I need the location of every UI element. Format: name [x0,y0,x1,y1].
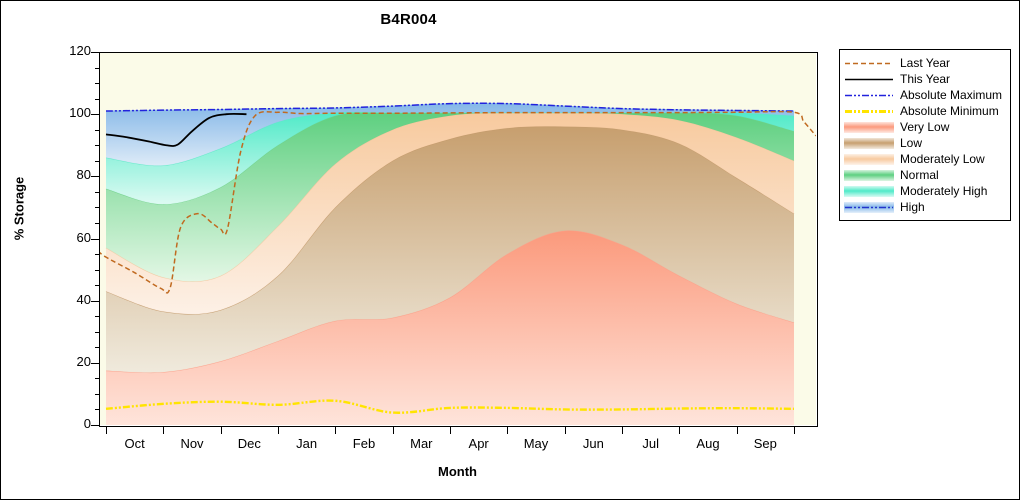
y-axis-tick-label: 0 [49,416,91,431]
x-axis-tick [507,426,508,434]
y-axis-tick-label: 40 [49,292,91,307]
x-axis-tick [278,426,279,434]
legend-item-label: Normal [900,167,939,183]
legend-item-high[interactable]: High [844,199,1006,215]
x-axis-tick [622,426,623,434]
plot-area [99,52,816,425]
legend-swatch-icon [844,89,894,102]
legend-item-this-year[interactable]: This Year [844,71,1006,87]
legend-item-label: High [900,199,925,215]
legend-swatch-icon [844,73,894,86]
y-axis-tick [91,363,100,364]
y-axis-tick [91,114,100,115]
x-axis-tick [565,426,566,434]
chart-canvas [99,52,816,425]
y-axis-tick [95,99,100,100]
y-axis-tick [95,223,100,224]
y-axis-tick-label: 20 [49,354,91,369]
y-axis-tick-label: 100 [49,105,91,120]
legend-item-label: Last Year [900,55,950,71]
y-axis-title: % Storage [12,129,27,289]
x-axis-tick-label: May [506,436,566,451]
y-axis-tick [95,332,100,333]
legend-item-label: Very Low [900,119,949,135]
y-axis-tick [95,145,100,146]
y-axis-tick [95,83,100,84]
y-axis-tick [95,270,100,271]
x-axis-tick [679,426,680,434]
x-axis-tick-label: Jan [277,436,337,451]
legend-item-label: Absolute Minimum [900,103,999,119]
legend[interactable]: Last YearThis YearAbsolute MaximumAbsolu… [839,49,1011,221]
legend-item-very-low[interactable]: Very Low [844,119,1006,135]
x-axis-tick [450,426,451,434]
x-axis-title: Month [99,464,816,479]
x-axis-tick-label: Jul [621,436,681,451]
chart-window: B4R004 % Storage Month 020406080100120 O… [0,0,1020,500]
legend-item-label: Moderately High [900,183,987,199]
x-axis-tick [106,426,107,434]
x-axis-tick-label: Aug [678,436,738,451]
legend-item-last-year[interactable]: Last Year [844,55,1006,71]
y-axis-tick [95,161,100,162]
x-axis-tick [393,426,394,434]
x-axis-tick-label: Dec [219,436,279,451]
x-axis-tick-label: Apr [449,436,509,451]
y-axis-tick [95,394,100,395]
legend-item-label: This Year [900,71,950,87]
legend-swatch-icon [844,201,894,214]
y-axis-tick [91,176,100,177]
y-axis-tick [95,285,100,286]
x-axis-tick [737,426,738,434]
y-axis-tick-label: 80 [49,167,91,182]
y-axis-tick-labels: 020406080100120 [45,1,91,501]
legend-item-normal[interactable]: Normal [844,167,1006,183]
x-axis-tick-label: Oct [105,436,165,451]
x-axis-tick-label: Sep [735,436,795,451]
y-axis-tick [95,207,100,208]
y-axis-tick [95,316,100,317]
y-axis-tick [95,254,100,255]
legend-item-moderately-low[interactable]: Moderately Low [844,151,1006,167]
x-axis-ticks [99,426,817,435]
y-axis-tick [95,378,100,379]
x-axis-tick [335,426,336,434]
legend-swatch-icon [844,57,894,70]
x-axis-tick [794,426,795,434]
legend-swatch-icon [844,137,894,150]
x-axis-tick [221,426,222,434]
y-axis-tick [95,68,100,69]
x-axis-tick-label: Jun [563,436,623,451]
legend-swatch-icon [844,121,894,134]
y-axis-tick [95,130,100,131]
legend-item-absolute-minimum[interactable]: Absolute Minimum [844,103,1006,119]
y-axis-tick [95,192,100,193]
y-axis-tick [91,52,100,53]
y-axis-tick [91,239,100,240]
y-axis-tick-label: 60 [49,230,91,245]
page-title: B4R004 [1,11,816,28]
legend-swatch-icon [844,153,894,166]
x-axis-tick-label: Mar [391,436,451,451]
legend-swatch-icon [844,185,894,198]
legend-item-label: Low [900,135,922,151]
x-axis-tick-label: Nov [162,436,222,451]
legend-item-moderately-high[interactable]: Moderately High [844,183,1006,199]
legend-swatch-icon [844,105,894,118]
legend-item-absolute-maximum[interactable]: Absolute Maximum [844,87,1006,103]
x-axis-tick-labels: OctNovDecJanFebMarAprMayJunJulAugSep [99,436,817,456]
y-axis-tick-label: 120 [49,43,91,58]
legend-item-low[interactable]: Low [844,135,1006,151]
y-axis-tick [95,409,100,410]
y-axis-tick [95,347,100,348]
x-axis-tick-label: Feb [334,436,394,451]
legend-item-label: Moderately Low [900,151,985,167]
x-axis-tick [163,426,164,434]
legend-item-label: Absolute Maximum [900,87,1002,103]
y-axis-tick [91,301,100,302]
legend-swatch-icon [844,169,894,182]
